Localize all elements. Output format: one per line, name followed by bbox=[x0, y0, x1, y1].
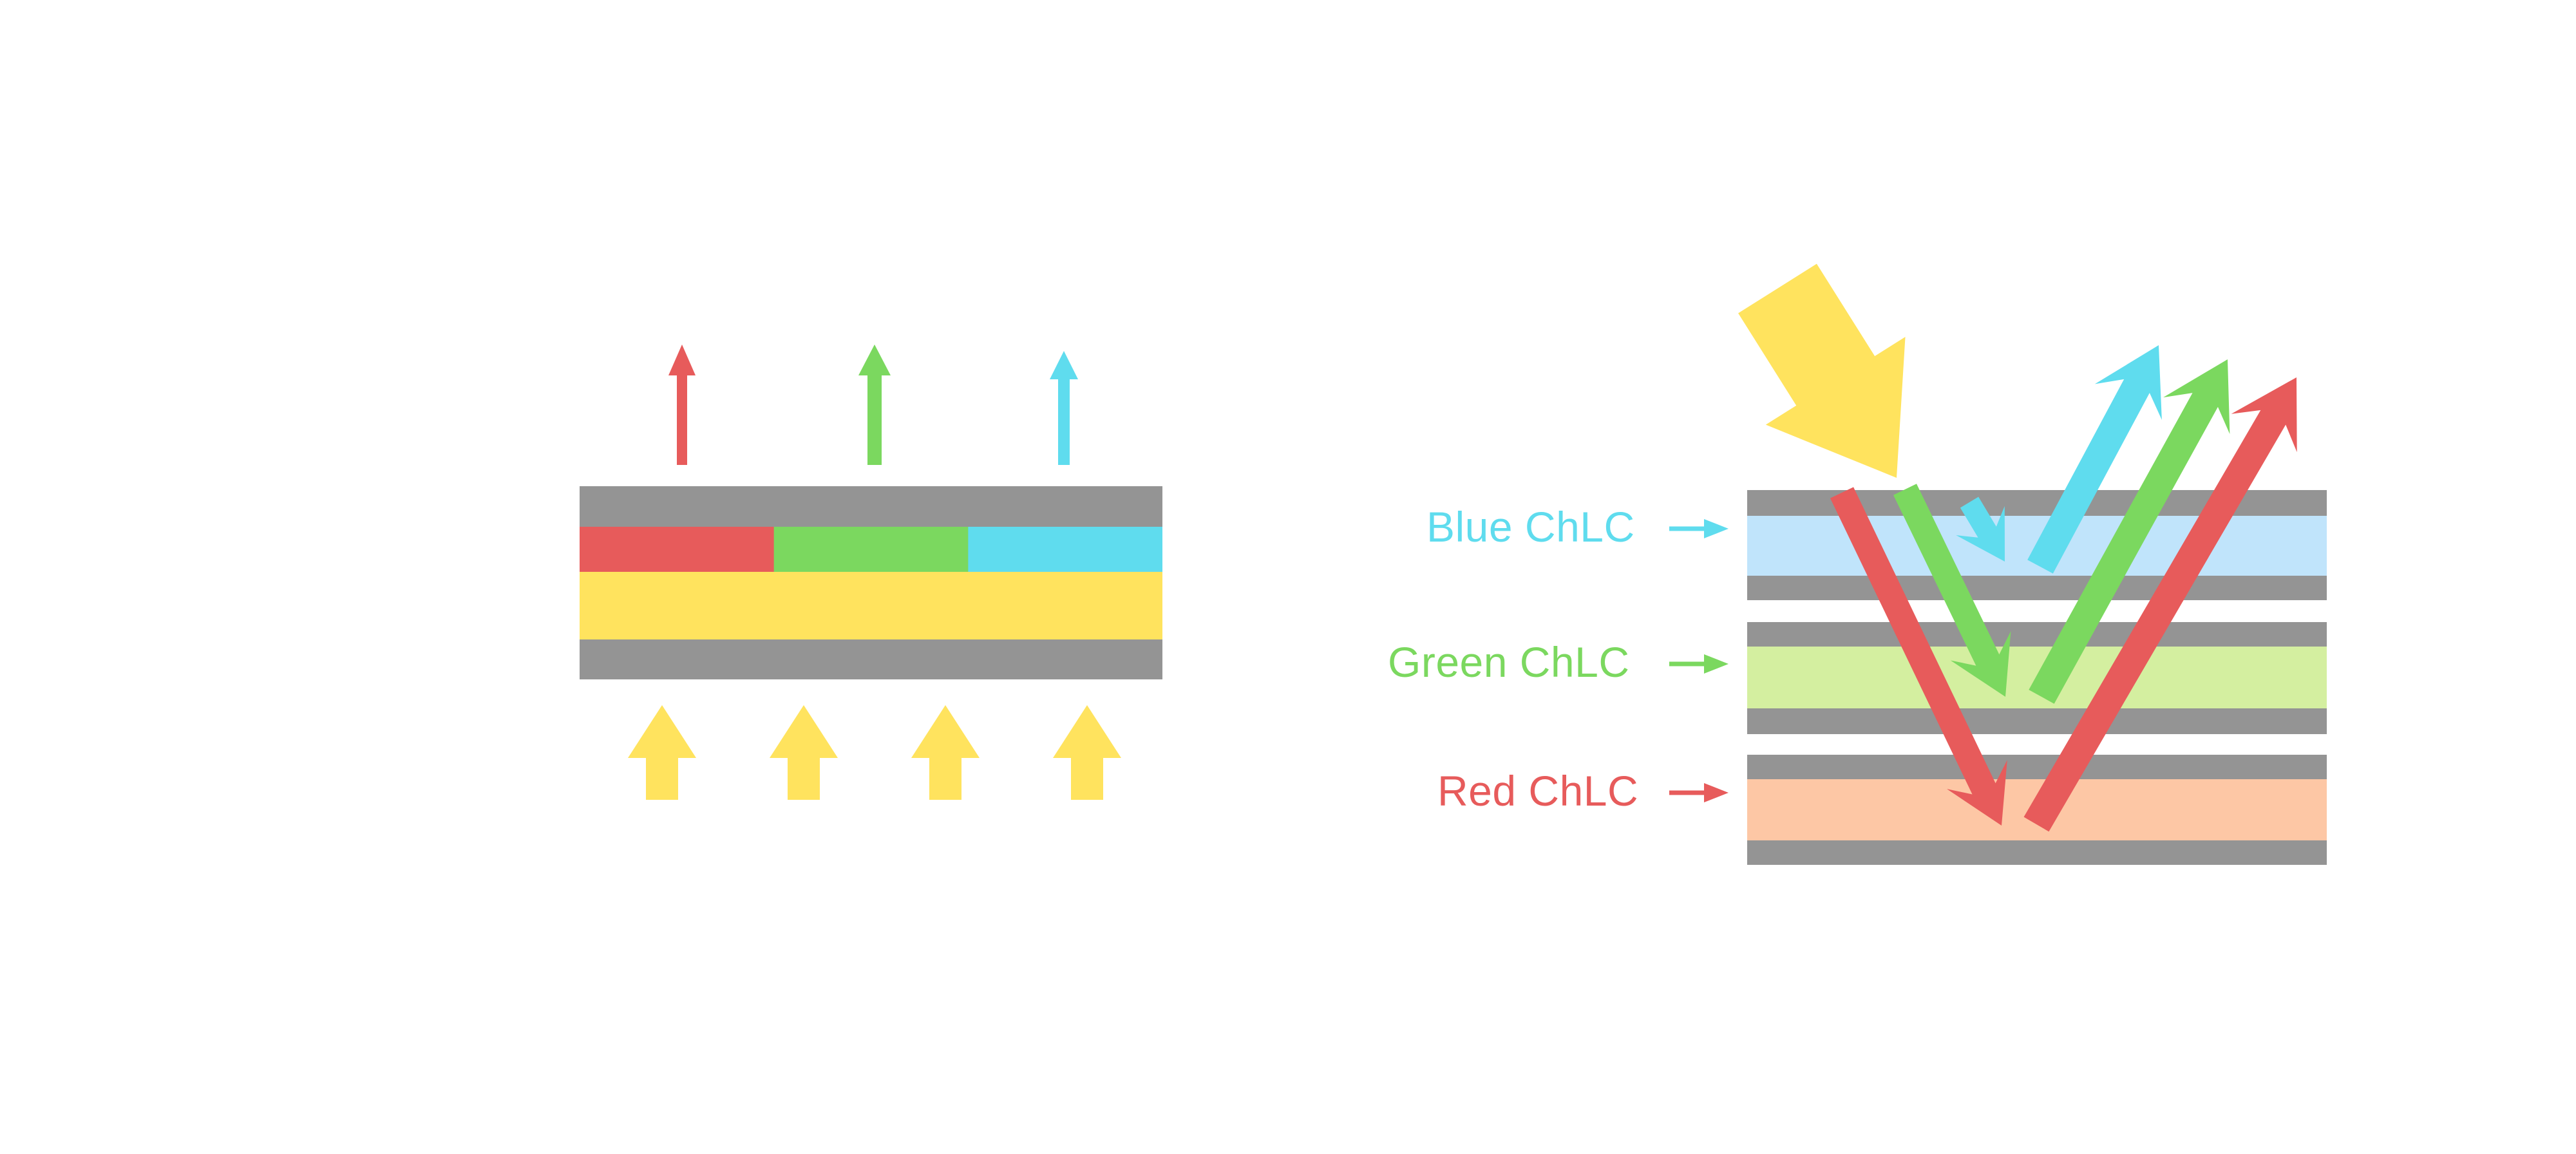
red-filter-segment bbox=[580, 527, 775, 572]
diagram-canvas: Blue ChLCGreen ChLCRed ChLC bbox=[0, 0, 2576, 1154]
yellow-backlight-layer bbox=[580, 572, 1162, 639]
red-cell-bottom-gray bbox=[1747, 840, 2327, 865]
green-filter-segment bbox=[774, 527, 969, 572]
green-cell-top-gray bbox=[1747, 622, 2327, 647]
bottom-electrode-gray bbox=[580, 639, 1162, 679]
blue-cell-bottom-gray bbox=[1747, 576, 2327, 600]
blue-filter-segment bbox=[968, 527, 1162, 572]
green-chlc-label: Green ChLC bbox=[1388, 638, 1630, 686]
green-cell-bottom-gray bbox=[1747, 708, 2327, 734]
blue-chlc-label: Blue ChLC bbox=[1426, 503, 1635, 551]
top-electrode-gray bbox=[580, 486, 1162, 527]
left-layer-stack bbox=[580, 486, 1162, 679]
red-chlc-label: Red ChLC bbox=[1437, 767, 1638, 815]
red-cell-top-gray bbox=[1747, 755, 2327, 779]
